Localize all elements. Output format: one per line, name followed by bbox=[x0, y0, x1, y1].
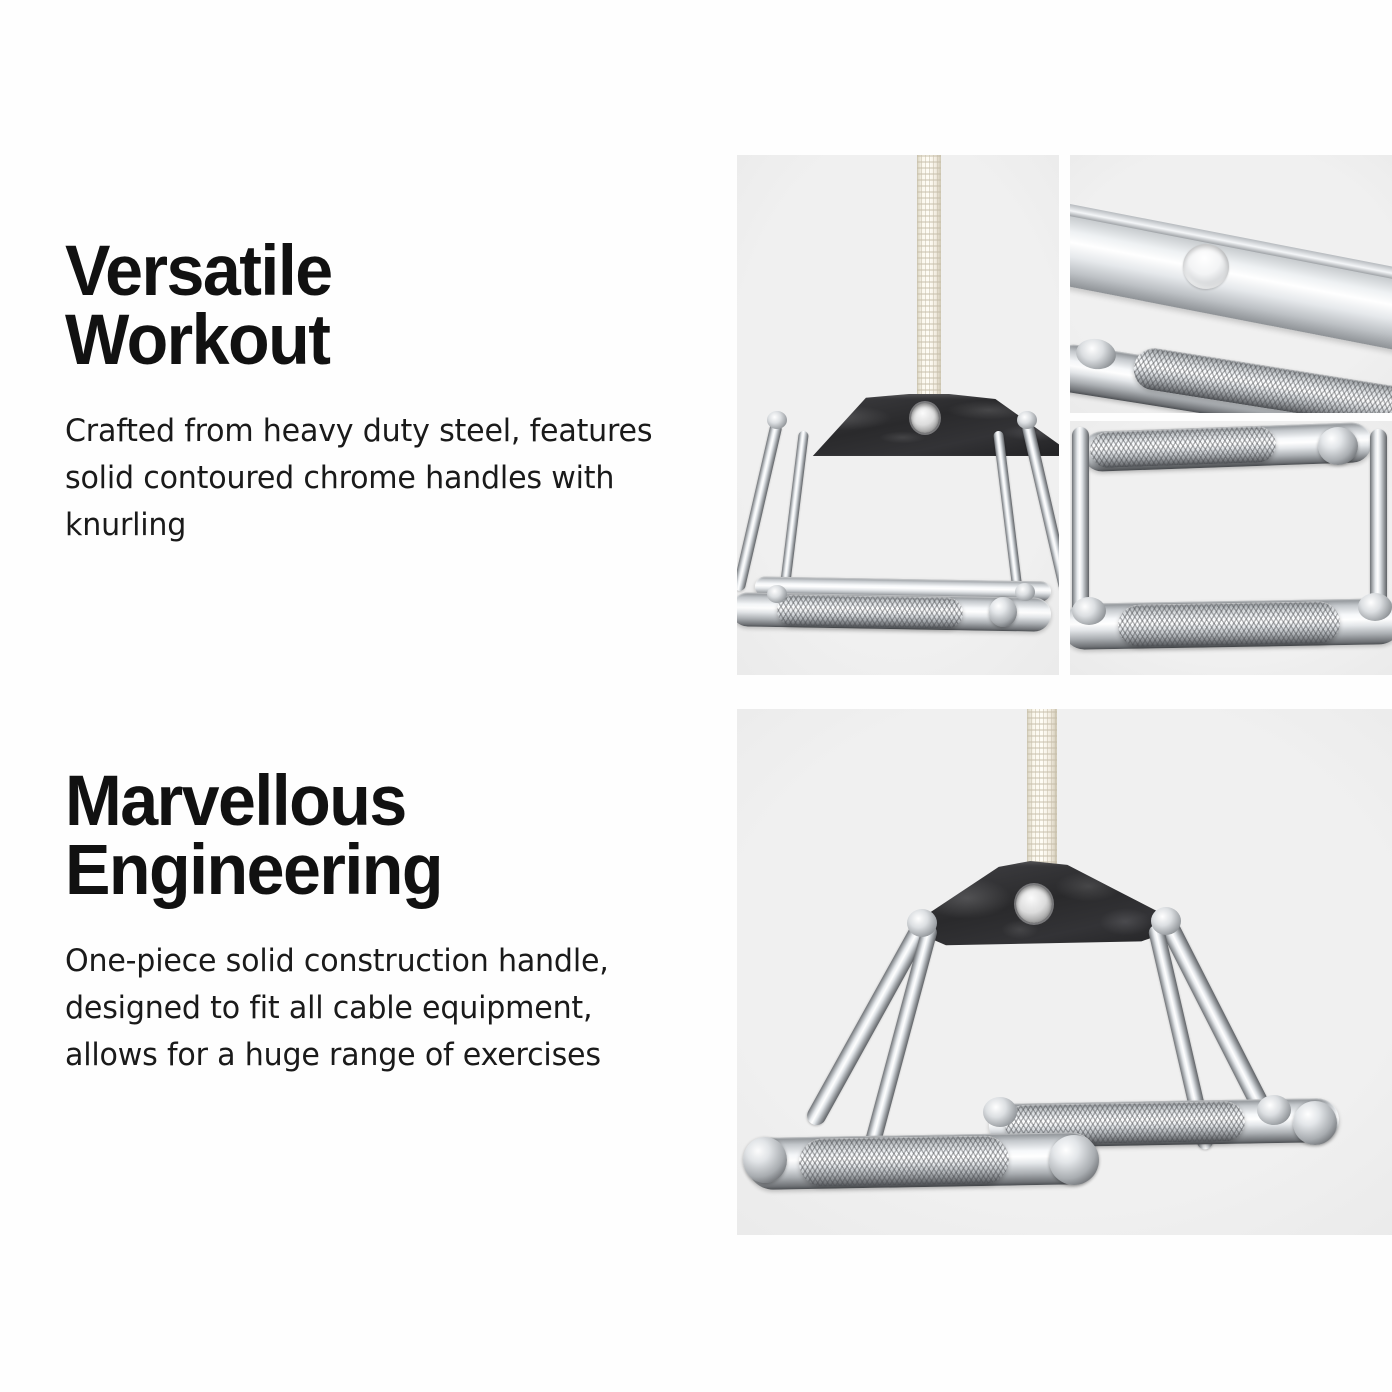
steel-plate-edge bbox=[1070, 204, 1392, 357]
frame-strut-left-outer bbox=[804, 916, 933, 1128]
weld-joint bbox=[1072, 597, 1106, 625]
grip-bar-end-cap bbox=[989, 597, 1017, 627]
grip-bar-front-knurled bbox=[777, 594, 964, 628]
grip-bar-back-knurled bbox=[1089, 426, 1276, 468]
feature-block-versatile-workout: Versatile Workout Crafted from heavy dut… bbox=[65, 238, 685, 549]
frame-strut-left-outer bbox=[737, 422, 783, 592]
steel-top-plate bbox=[763, 394, 1059, 456]
handle-illustration bbox=[737, 155, 1059, 675]
frame-strut-left-inner bbox=[780, 430, 809, 588]
weld-joint bbox=[1257, 1095, 1291, 1125]
frame-leg-left bbox=[1072, 427, 1089, 621]
feature-body: One-piece solid construction handle, des… bbox=[65, 938, 671, 1079]
grip-bar-front-end-cap bbox=[743, 1137, 787, 1183]
plate-mounting-hole bbox=[1016, 885, 1052, 923]
frame-leg-right bbox=[1370, 429, 1387, 615]
feature-block-marvellous-engineering: Marvellous Engineering One-piece solid c… bbox=[65, 768, 685, 1079]
feature-text-column: Versatile Workout Crafted from heavy dut… bbox=[0, 0, 720, 1392]
feature-body: Crafted from heavy duty steel, features … bbox=[65, 408, 671, 549]
product-photo-plate-closeup bbox=[1070, 155, 1392, 413]
product-photo-bars-closeup bbox=[1070, 421, 1392, 675]
handle-main-illustration bbox=[737, 709, 1392, 1235]
feature-heading: Versatile Workout bbox=[65, 238, 660, 376]
weld-joint bbox=[767, 411, 787, 429]
weld-joint bbox=[1358, 593, 1392, 621]
grip-bar-back-end-cap bbox=[1318, 427, 1358, 465]
weld-joint bbox=[983, 1097, 1017, 1127]
product-photo-handle-main bbox=[737, 709, 1392, 1235]
grip-bar-front-end-cap bbox=[1049, 1135, 1099, 1185]
weld-joint bbox=[767, 585, 787, 603]
grip-bar-front-knurled bbox=[799, 1135, 1010, 1187]
weld-joint bbox=[907, 909, 937, 937]
plate-mounting-hole bbox=[911, 403, 939, 433]
plate-detail-illustration bbox=[1070, 155, 1392, 413]
grip-bar-back-end-cap bbox=[1293, 1101, 1337, 1145]
weld-joint bbox=[1151, 907, 1181, 935]
product-photo-handle-hanging bbox=[737, 155, 1059, 675]
grip-bar-front-knurled bbox=[1118, 601, 1341, 647]
nylon-strap bbox=[917, 155, 941, 415]
feature-heading: Marvellous Engineering bbox=[65, 768, 660, 906]
weld-joint bbox=[1017, 411, 1037, 429]
bars-detail-illustration bbox=[1070, 421, 1392, 675]
weld-joint bbox=[1015, 583, 1035, 601]
